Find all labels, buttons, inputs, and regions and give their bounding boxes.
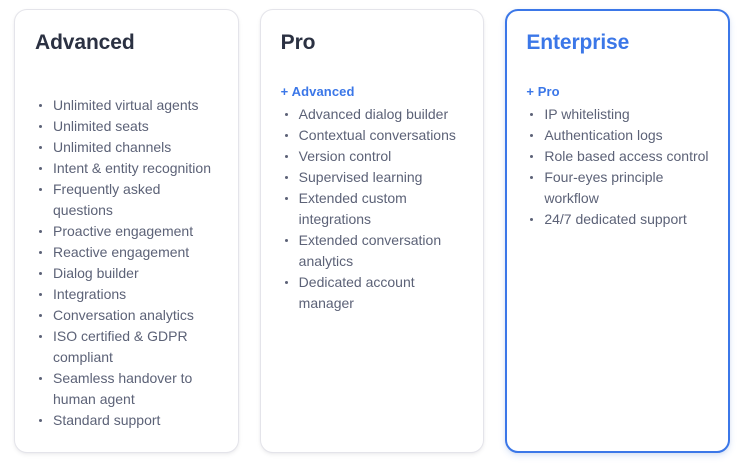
tier-title: Advanced — [35, 31, 218, 55]
tier-feature-list: Advanced dialog builderContextual conver… — [281, 104, 464, 314]
feature-item: Frequently asked questions — [35, 179, 218, 221]
feature-item: Seamless handover to human agent — [35, 368, 218, 410]
feature-item: Reactive engagement — [35, 242, 218, 263]
feature-item: Advanced dialog builder — [281, 104, 464, 125]
feature-item: Unlimited virtual agents — [35, 95, 218, 116]
tier-card-pro[interactable]: Pro+ AdvancedAdvanced dialog builderCont… — [260, 9, 485, 453]
feature-item: Proactive engagement — [35, 221, 218, 242]
feature-item: Standard support — [35, 410, 218, 431]
feature-item: Extended custom integrations — [281, 188, 464, 230]
feature-item: Dialog builder — [35, 263, 218, 284]
tier-title: Pro — [281, 31, 464, 55]
feature-item: Four-eyes principle workflow — [526, 167, 709, 209]
tier-feature-list: IP whitelistingAuthentication logsRole b… — [526, 104, 709, 230]
feature-item: Intent & entity recognition — [35, 158, 218, 179]
feature-item: IP whitelisting — [526, 104, 709, 125]
tier-card-enterprise[interactable]: Enterprise+ ProIP whitelistingAuthentica… — [505, 9, 730, 453]
feature-item: Role based access control — [526, 146, 709, 167]
pricing-tier-comparison: AdvancedUnlimited virtual agentsUnlimite… — [0, 0, 744, 453]
feature-item: Unlimited seats — [35, 116, 218, 137]
tier-inherits-label[interactable]: + Pro — [526, 82, 709, 102]
feature-item: Contextual conversations — [281, 125, 464, 146]
feature-item: 24/7 dedicated support — [526, 209, 709, 230]
tier-feature-list: Unlimited virtual agentsUnlimited seatsU… — [35, 95, 218, 431]
feature-item: Conversation analytics — [35, 305, 218, 326]
feature-item: Version control — [281, 146, 464, 167]
feature-item: Authentication logs — [526, 125, 709, 146]
feature-item: Integrations — [35, 284, 218, 305]
feature-item: Supervised learning — [281, 167, 464, 188]
tier-inherits-label[interactable]: + Advanced — [281, 82, 464, 102]
feature-item: Unlimited channels — [35, 137, 218, 158]
feature-item: Dedicated account manager — [281, 272, 464, 314]
feature-item: ISO certified & GDPR compliant — [35, 326, 218, 368]
tier-card-advanced[interactable]: AdvancedUnlimited virtual agentsUnlimite… — [14, 9, 239, 453]
tier-title: Enterprise — [526, 31, 709, 55]
feature-item: Extended conversation analytics — [281, 230, 464, 272]
